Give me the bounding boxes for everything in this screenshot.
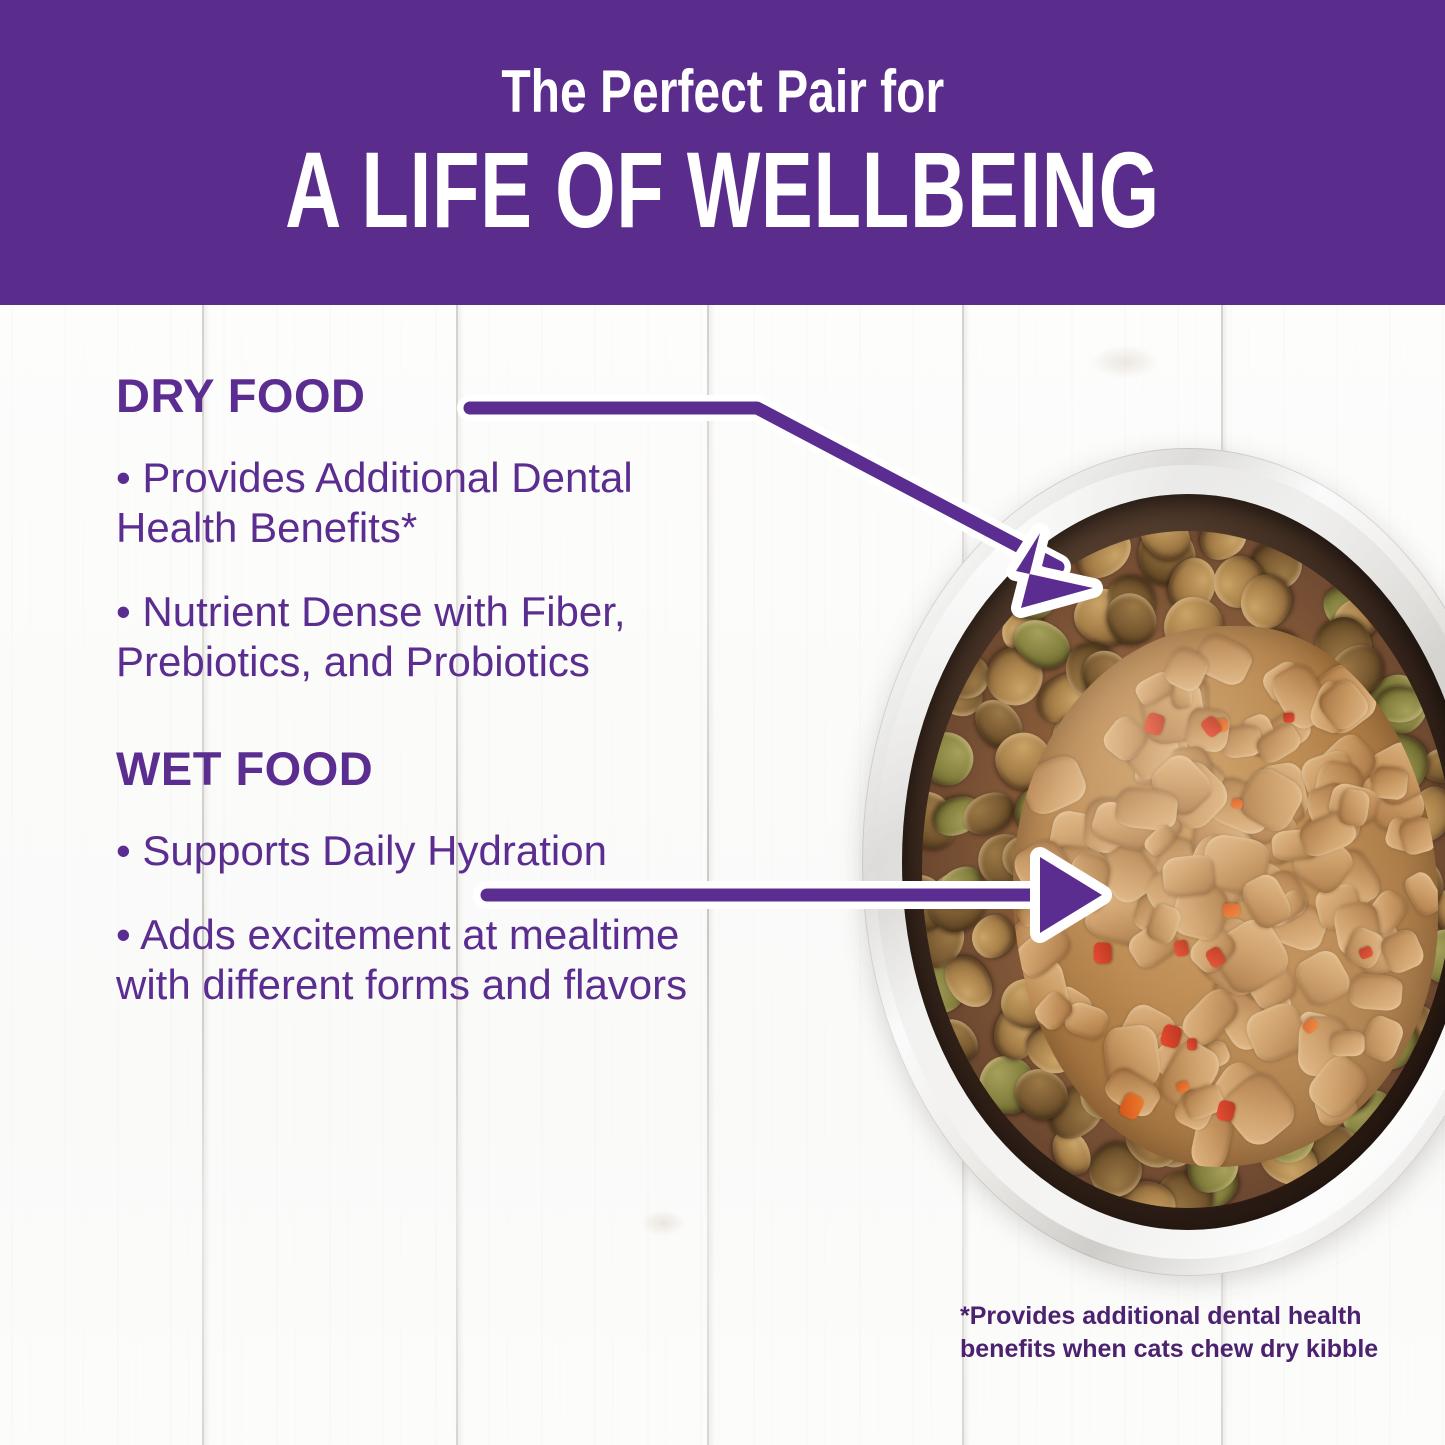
wood-knot — [1090, 345, 1160, 379]
bullet-list-dry-food: • Provides Additional Dental Health Bene… — [116, 453, 816, 687]
section-dry-food: DRY FOOD • Provides Additional Dental He… — [116, 372, 816, 687]
bullet-dot-icon: • — [116, 911, 131, 958]
bullet-text: Supports Daily Hydration — [142, 827, 607, 874]
footnote-line-1: *Provides additional dental health — [960, 1300, 1380, 1333]
section-wet-food: WET FOOD • Supports Daily Hydration • Ad… — [116, 745, 816, 1010]
bullet-item: • Supports Daily Hydration — [116, 826, 736, 876]
bullet-text: Nutrient Dense with Fiber, Prebiotics, a… — [116, 588, 626, 685]
header-kicker: The Perfect Pair for — [501, 62, 944, 122]
bowl-rim — [862, 448, 1445, 1276]
benefits-copy-column: DRY FOOD • Provides Additional Dental He… — [116, 372, 816, 1044]
section-heading-wet-food: WET FOOD — [116, 745, 816, 792]
wet-food-gravy — [1013, 626, 1438, 1167]
wood-knot — [640, 1210, 686, 1236]
gravy-sheen — [1013, 626, 1438, 1167]
bullet-dot-icon: • — [116, 454, 131, 501]
food-bowl-photo — [862, 448, 1445, 1278]
bullet-dot-icon: • — [116, 827, 131, 874]
dry-kibble-piece — [922, 729, 977, 790]
section-heading-dry-food: DRY FOOD — [116, 372, 816, 419]
bowl-interior — [902, 494, 1445, 1229]
footnote-line-2: benefits when cats chew dry kibble — [960, 1333, 1380, 1366]
page-title: A LIFE OF WELLBEING — [285, 136, 1160, 244]
bullet-item: • Nutrient Dense with Fiber, Prebiotics,… — [116, 587, 736, 687]
bowl-food-contents — [922, 531, 1445, 1207]
bullet-text: Adds excitement at mealtime with differe… — [116, 911, 687, 1008]
bullet-text: Provides Additional Dental Health Benefi… — [116, 454, 633, 551]
bullet-dot-icon: • — [116, 588, 131, 635]
bullet-list-wet-food: • Supports Daily Hydration • Adds excite… — [116, 826, 816, 1010]
footnote: *Provides additional dental health benef… — [960, 1300, 1380, 1365]
header-banner: The Perfect Pair for A LIFE OF WELLBEING — [0, 0, 1445, 305]
poster-canvas: The Perfect Pair for A LIFE OF WELLBEING… — [0, 0, 1445, 1445]
bullet-item: • Provides Additional Dental Health Bene… — [116, 453, 736, 553]
bullet-item: • Adds excitement at mealtime with diffe… — [116, 910, 736, 1010]
